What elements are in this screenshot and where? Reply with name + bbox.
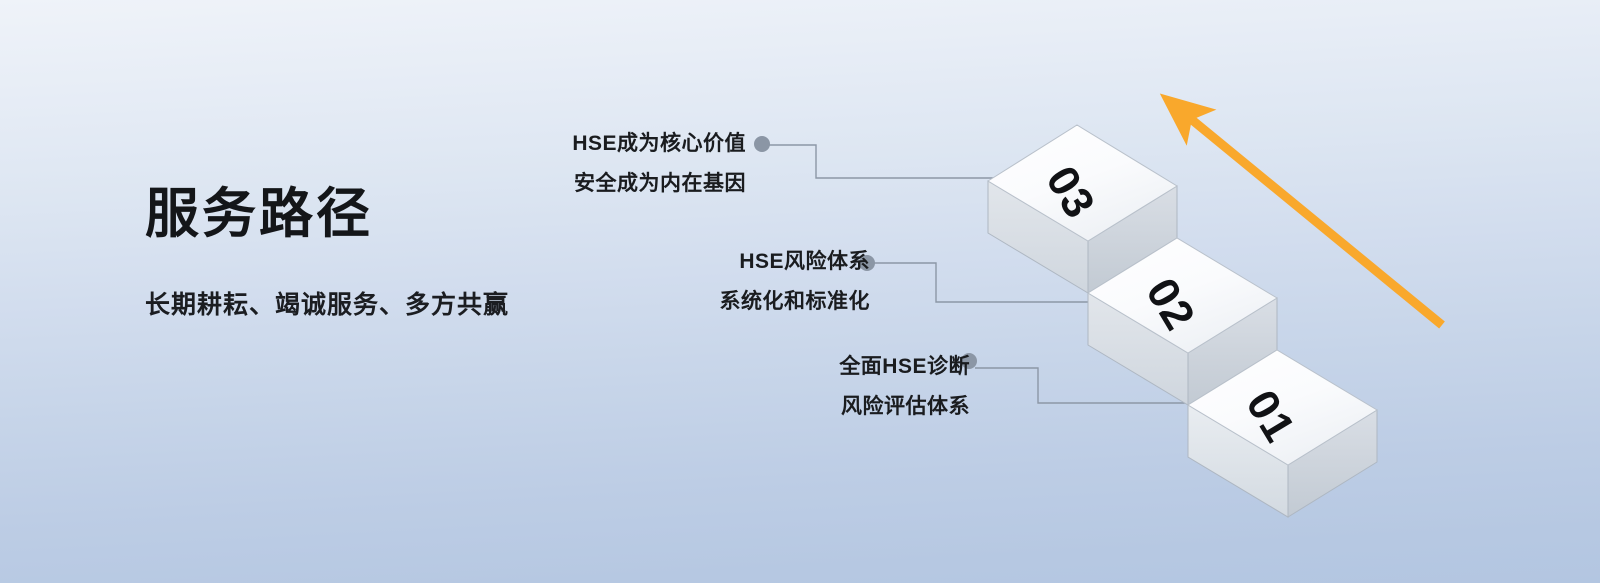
step-03-label-line-1: HSE成为核心价值 [296, 133, 746, 154]
connector-dot-03 [754, 136, 770, 152]
step-03-label-line-2: 安全成为内在基因 [296, 173, 746, 194]
step-01-label-line-2: 风险评估体系 [520, 396, 970, 417]
step-callout-03: HSE成为核心价值 安全成为内在基因 [296, 133, 746, 194]
step-02-label-line-1: HSE风险体系 [420, 251, 870, 272]
connector-line-03 [768, 145, 1000, 178]
step-callout-02: HSE风险体系 系统化和标准化 [420, 251, 870, 312]
slide-canvas: 服务路径 长期耕耘、竭诚服务、多方共赢 [0, 0, 1600, 583]
step-callout-01: 全面HSE诊断 风险评估体系 [520, 356, 970, 417]
step-02-label-line-2: 系统化和标准化 [420, 291, 870, 312]
step-01-label-line-1: 全面HSE诊断 [520, 356, 970, 377]
